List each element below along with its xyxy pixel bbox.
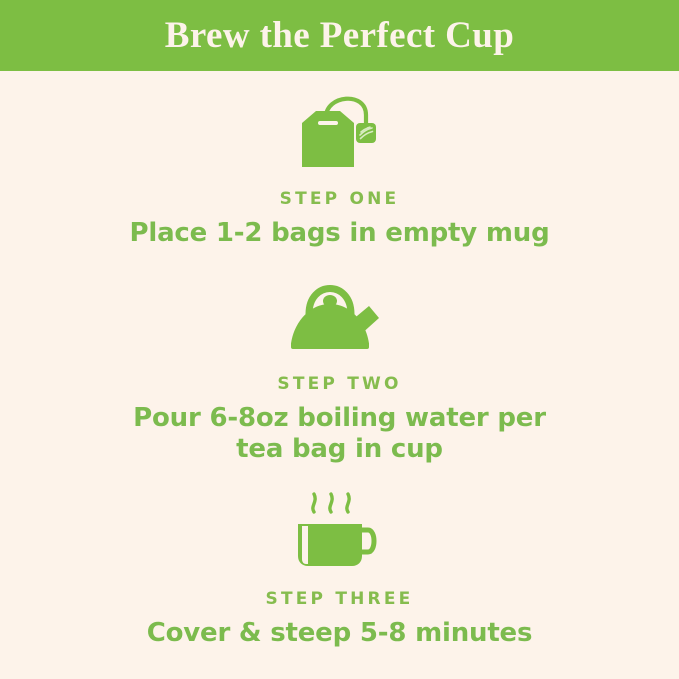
header-banner: Brew the Perfect Cup — [0, 0, 679, 71]
page-title: Brew the Perfect Cup — [155, 17, 524, 54]
step-description: Pour 6-8oz boiling water per tea bag in … — [133, 403, 546, 466]
kettle-icon — [285, 274, 395, 356]
steps-list: STEP ONE Place 1-2 bags in empty mug STE… — [0, 71, 679, 679]
step-label: STEP TWO — [277, 376, 401, 393]
step-label: STEP THREE — [266, 591, 414, 608]
step-item-one: STEP ONE Place 1-2 bags in empty mug — [0, 89, 679, 250]
mug-icon — [288, 488, 392, 572]
step-item-three: STEP THREE Cover & steep 5-8 minutes — [0, 488, 679, 650]
step-description: Place 1-2 bags in empty mug — [130, 218, 550, 250]
step-item-two: STEP TWO Pour 6-8oz boiling water per te… — [0, 274, 679, 466]
tea-bag-icon — [288, 89, 392, 173]
step-label: STEP ONE — [280, 191, 400, 208]
step-description: Cover & steep 5-8 minutes — [147, 618, 533, 650]
brew-guide-infographic: Brew the Perfect Cup ST — [0, 0, 679, 679]
